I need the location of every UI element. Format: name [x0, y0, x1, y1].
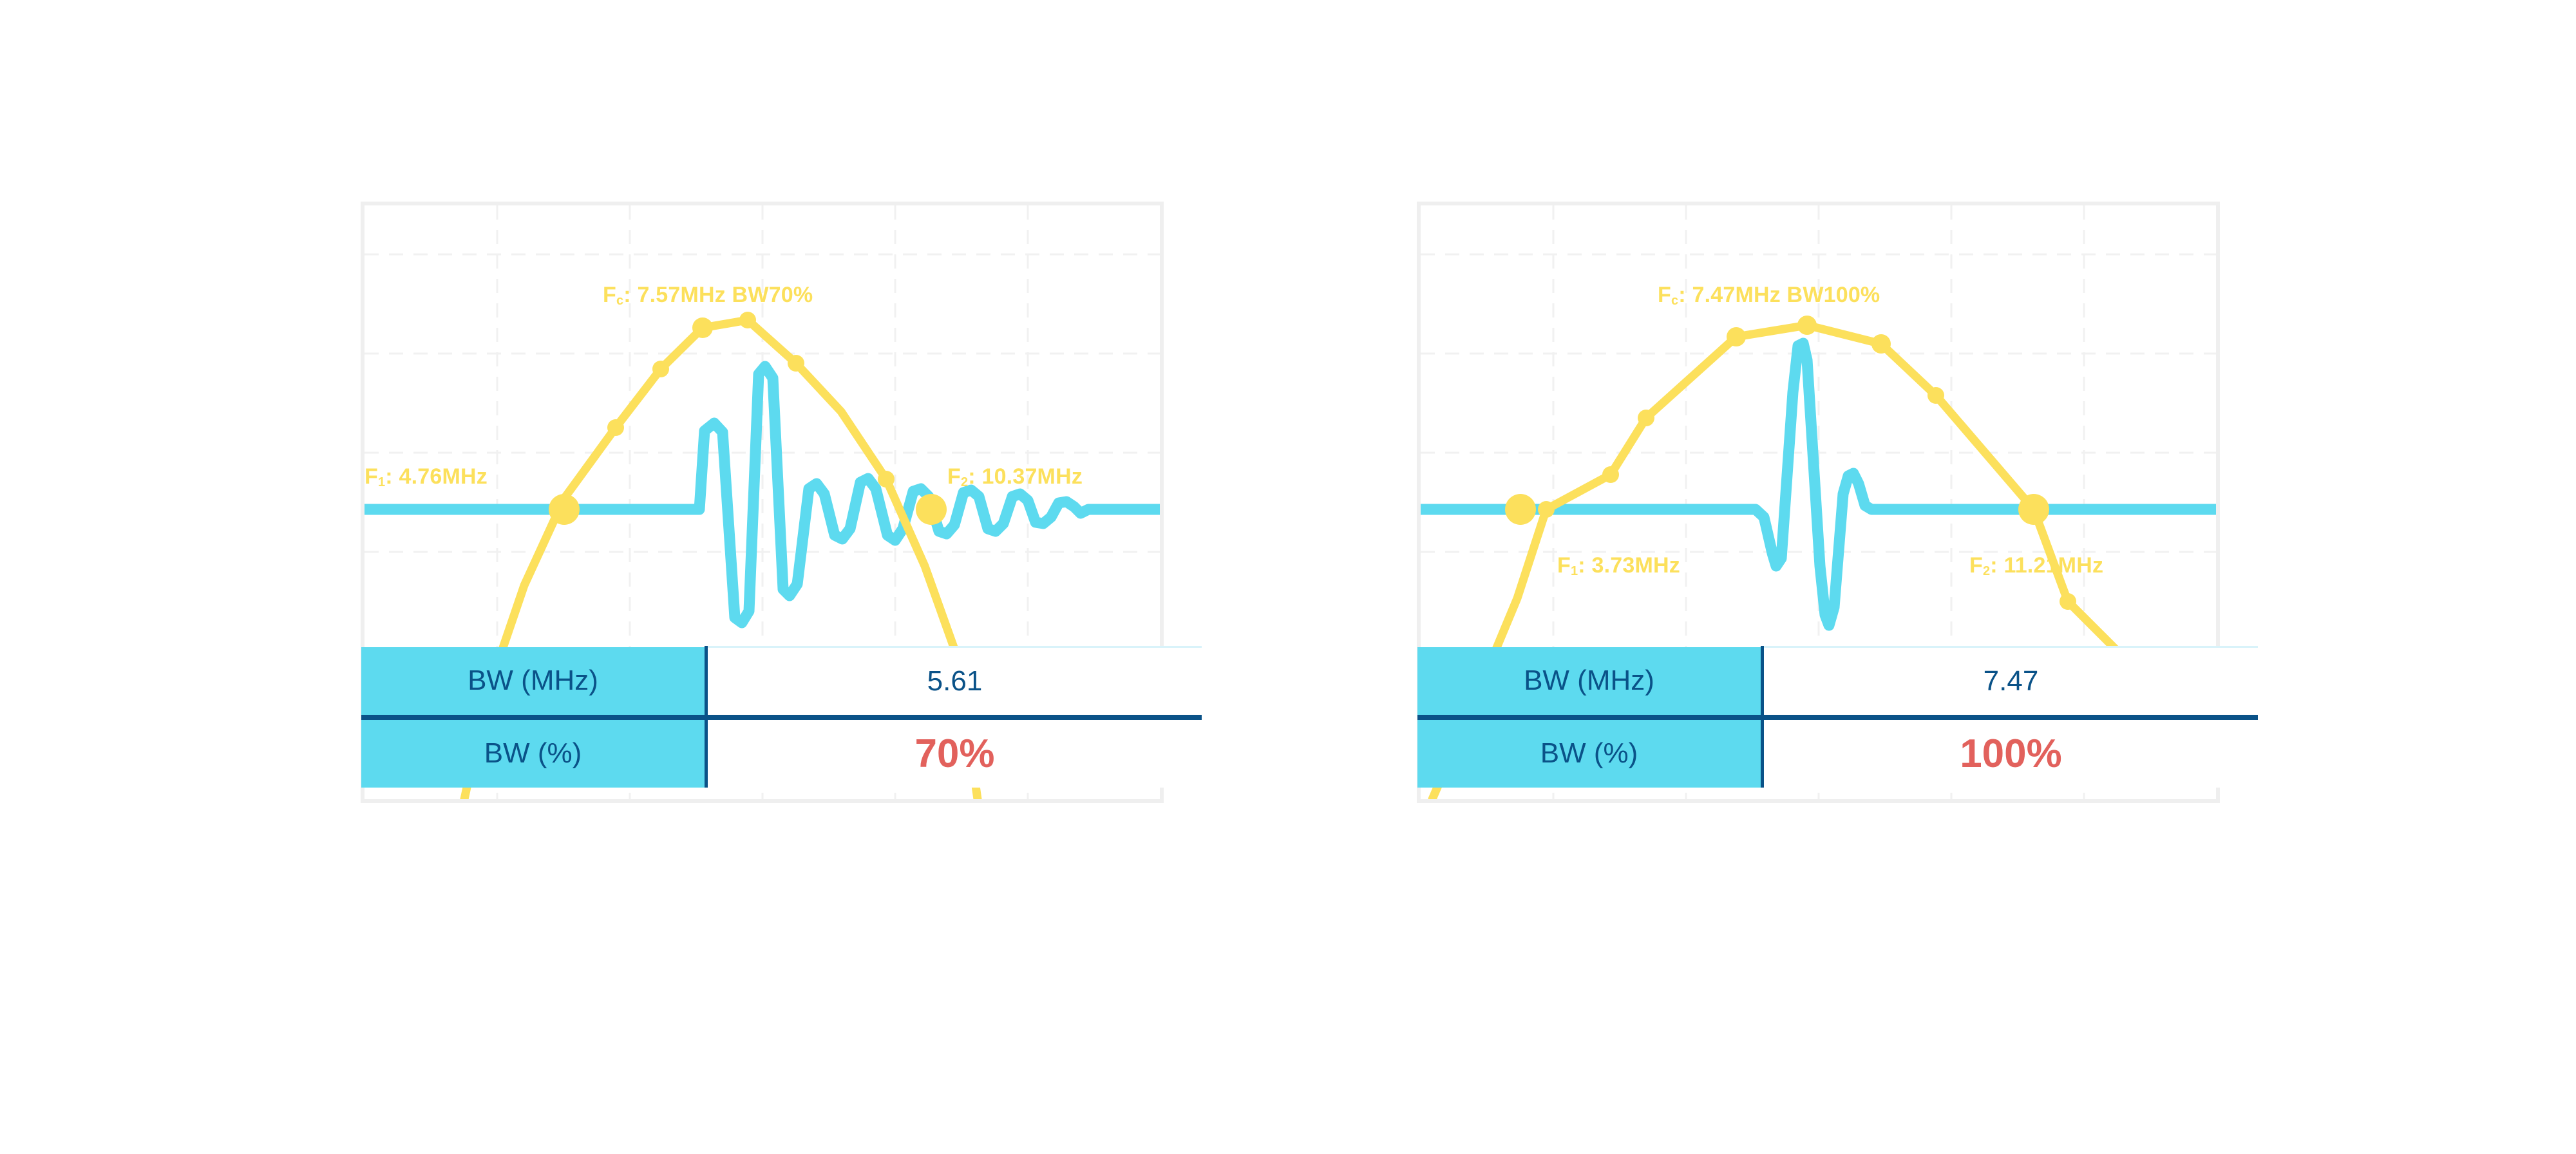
- f2-subscript-right: 2: [1983, 564, 1990, 578]
- label-center-frequency-right: Fc: 7.47MHz BW100%: [1658, 284, 1880, 307]
- panel-left: Fc: 7.57MHz BW70% F1: 4.76MHz F2: 10.37M…: [309, 0, 1275, 1154]
- f2-symbol-left: F: [947, 464, 961, 489]
- f2-symbol-right: F: [1969, 553, 1983, 578]
- bw-pct-value-left: 70%: [706, 717, 1202, 788]
- bandwidth-table-left: BW (MHz) 5.61 BW (%) 70%: [361, 646, 1202, 788]
- fc-subscript-right: c: [1671, 294, 1678, 308]
- label-center-frequency-left: Fc: 7.57MHz BW70%: [603, 284, 813, 307]
- figure-canvas: Fc: 7.57MHz BW70% F1: 4.76MHz F2: 10.37M…: [0, 0, 2576, 1154]
- table-row: BW (%) 100%: [1417, 717, 2258, 788]
- f1-text-right: : 3.73MHz: [1578, 553, 1680, 578]
- table-row: BW (%) 70%: [361, 717, 1202, 788]
- f2-text-left: : 10.37MHz: [968, 464, 1083, 489]
- fc-symbol-right: F: [1658, 283, 1671, 307]
- table-row: BW (MHz) 5.61: [361, 647, 1202, 717]
- f1-text-left: : 4.76MHz: [385, 464, 488, 489]
- fc-symbol-left: F: [603, 283, 616, 307]
- label-lower-frequency-right: F1: 3.73MHz: [1557, 554, 1680, 578]
- f1-symbol-right: F: [1557, 553, 1571, 578]
- label-lower-frequency-left: F1: 4.76MHz: [365, 466, 488, 489]
- bw-mhz-label-left: BW (MHz): [361, 647, 706, 717]
- table-row: BW (MHz) 7.47: [1417, 647, 2258, 717]
- f1-subscript-left: 1: [378, 475, 385, 489]
- bw-pct-label-right: BW (%): [1417, 717, 1763, 788]
- f2-text-right: : 11.21MHz: [1990, 553, 2103, 578]
- f1-subscript-right: 1: [1571, 564, 1578, 578]
- bw-pct-label-left: BW (%): [361, 717, 706, 788]
- fc-text-right: : 7.47MHz BW100%: [1678, 283, 1880, 307]
- bw-mhz-label-right: BW (MHz): [1417, 647, 1763, 717]
- f2-subscript-left: 2: [961, 475, 968, 489]
- label-upper-frequency-left: F2: 10.37MHz: [947, 466, 1083, 489]
- bw-pct-value-right: 100%: [1763, 717, 2259, 788]
- label-upper-frequency-right: F2: 11.21MHz: [1969, 554, 2103, 578]
- panel-right: Fc: 7.47MHz BW100% F1: 3.73MHz F2: 11.21…: [1365, 0, 2331, 1154]
- bw-mhz-value-left: 5.61: [706, 647, 1202, 717]
- fc-text-left: : 7.57MHz BW70%: [623, 283, 813, 307]
- bw-mhz-value-right: 7.47: [1763, 647, 2259, 717]
- f1-symbol-left: F: [365, 464, 378, 489]
- fc-subscript-left: c: [616, 294, 623, 308]
- bandwidth-table-right: BW (MHz) 7.47 BW (%) 100%: [1417, 646, 2258, 788]
